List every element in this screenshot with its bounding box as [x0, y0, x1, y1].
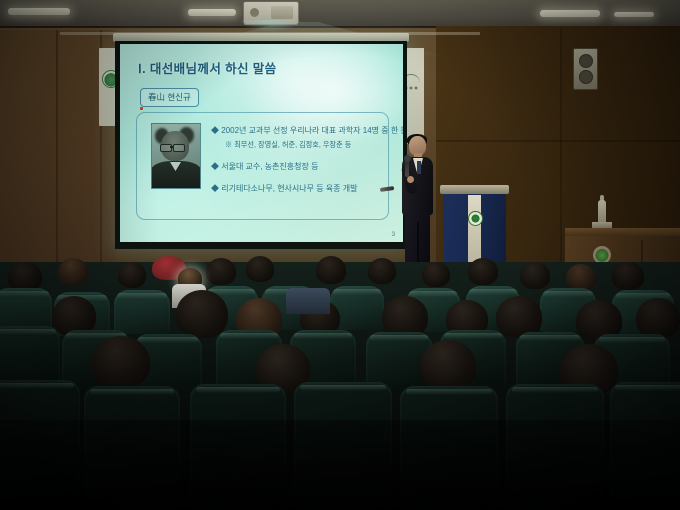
- audience-head: [612, 262, 644, 290]
- audience-head: [468, 258, 498, 285]
- audience-head: [566, 264, 596, 291]
- podium-emblem-icon: [468, 211, 483, 226]
- bottle: [598, 200, 606, 224]
- wall-seam: [436, 140, 680, 142]
- microphone-head-icon: [404, 155, 411, 162]
- presenter-leg-split: [417, 222, 419, 264]
- slide-body-box: ◆ 2002년 교과부 선정 우리나라 대표 과학자 14명 중 한 분 ※ 최…: [136, 112, 389, 220]
- slide-title: Ⅰ. 대선배님께서 하신 말씀: [138, 58, 277, 77]
- slide-name-box: 春山 현신규: [140, 88, 199, 107]
- ceiling-light: [540, 10, 600, 17]
- side-desk-top: [565, 228, 680, 236]
- wall-joint: [560, 28, 562, 286]
- slide-page-number: 3: [392, 232, 395, 238]
- podium-top: [440, 185, 509, 194]
- auditorium-seat: [0, 326, 60, 388]
- audience-head: [636, 298, 680, 338]
- slide-bullet-2: ※ 최무선, 장영실, 허준, 김정호, 우장춘 등: [225, 140, 378, 150]
- projector-lens: [250, 8, 259, 17]
- ceiling-light: [188, 9, 236, 16]
- audience-head: [58, 258, 88, 285]
- slide-bullet-list: ◆ 2002년 교과부 선정 우리나라 대표 과학자 14명 중 한 분 ※ 최…: [211, 125, 378, 194]
- slide-red-marker: [140, 107, 143, 110]
- audience-head: [520, 262, 550, 289]
- ceiling-light: [614, 12, 654, 17]
- ceiling-light: [8, 8, 70, 15]
- speaker-driver: [579, 54, 593, 68]
- audience-head: [246, 256, 274, 282]
- audience-head: [316, 256, 346, 284]
- projector-glow: [238, 20, 302, 32]
- audience-head: [92, 336, 150, 388]
- portrait-photo: [151, 123, 201, 189]
- audience-head: [422, 262, 450, 287]
- glasses-bridge: [170, 146, 173, 148]
- presenter-tie: [417, 161, 421, 174]
- auditorium-seat: [114, 290, 170, 334]
- projection-screen: Ⅰ. 대선배님께서 하신 말씀 春山 현신규 ◆ 2002년 교과부 선정 우: [115, 41, 407, 249]
- foreground-shadow: [0, 420, 680, 510]
- wall-speaker-icon: [573, 48, 598, 90]
- wall-joint: [56, 30, 58, 268]
- presenter-hand: [407, 176, 414, 183]
- audience-head: [206, 258, 236, 285]
- speaker-driver: [579, 70, 593, 84]
- audience-head: [420, 340, 476, 390]
- slide-bullet-4: ◆ 리기테다소나무, 현사시나무 등 육종 개발: [211, 183, 378, 194]
- audience-head: [118, 262, 146, 288]
- slide-bullet-3: ◆ 서울대 교수, 농촌진흥청장 등: [211, 161, 378, 172]
- audience-shirt: [286, 288, 330, 314]
- slide-bullet-1: ◆ 2002년 교과부 선정 우리나라 대표 과학자 14명 중 한 분: [211, 125, 378, 136]
- audience-head: [368, 258, 396, 284]
- presenter: [398, 136, 438, 264]
- audience-head: [176, 290, 228, 338]
- slide-surface: Ⅰ. 대선배님께서 하신 말씀 春山 현신규 ◆ 2002년 교과부 선정 우: [120, 44, 403, 242]
- projector-vent: [271, 6, 293, 19]
- lecture-hall-photo: Ⅰ. 대선배님께서 하신 말씀 春山 현신규 ◆ 2002년 교과부 선정 우: [0, 0, 680, 510]
- glasses-icon: [173, 144, 185, 152]
